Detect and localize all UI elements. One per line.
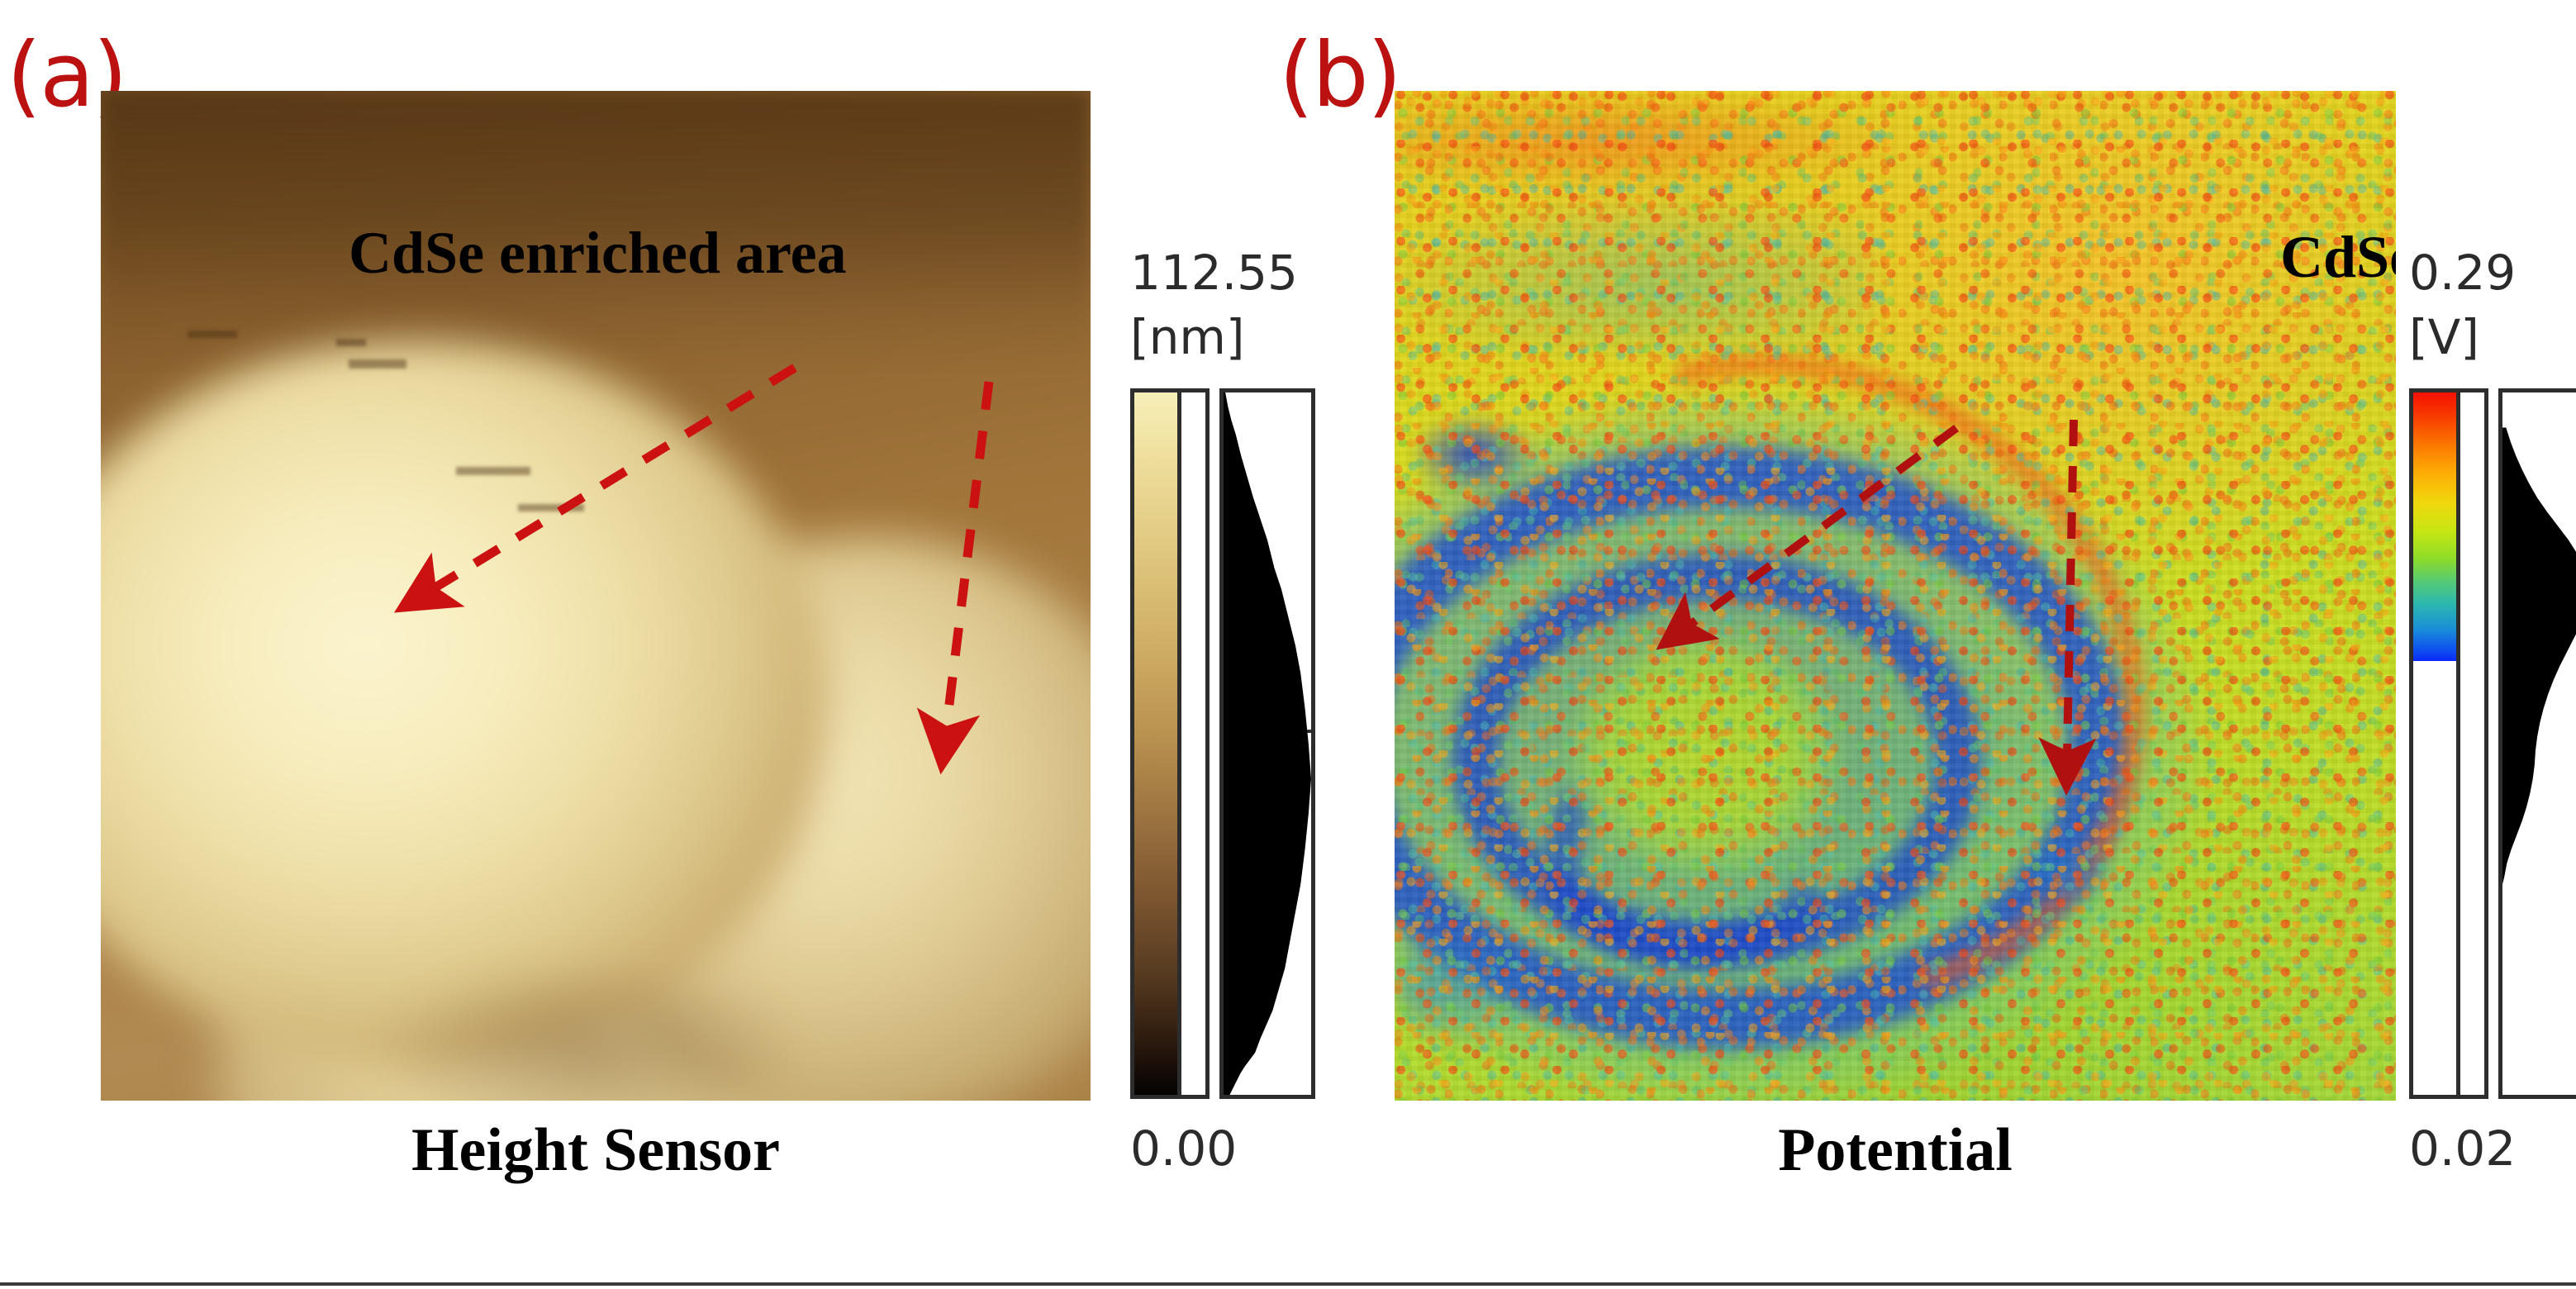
height-colorscale-widget: 112.55 [nm] 0.00 bbox=[1130, 248, 1320, 1173]
height-scale-min-label: 0.00 bbox=[1130, 1124, 1237, 1173]
height-scale-spacer-column bbox=[1181, 388, 1210, 1099]
afm-scan-streak bbox=[336, 339, 366, 346]
potential-scale-max-label: 0.29 bbox=[2409, 248, 2516, 297]
height-histogram-plot bbox=[1224, 392, 1311, 1095]
potential-scale-bars bbox=[2409, 388, 2576, 1099]
annotation-cdse-enriched-area-b: CdSe enriched area bbox=[2280, 227, 2396, 287]
figure-bottom-rule bbox=[0, 1282, 2576, 1286]
panel-label-b: (b) bbox=[1279, 31, 1400, 121]
potential-gradient-bar bbox=[2409, 388, 2460, 1099]
afm-scan-streak bbox=[518, 504, 584, 511]
potential-histogram-plot bbox=[2502, 392, 2576, 1095]
height-scale-unit-label: [nm] bbox=[1130, 312, 1245, 362]
height-scale-bars bbox=[1130, 388, 1315, 1099]
potential-scan-image: CdSe enriched area bbox=[1395, 91, 2396, 1101]
potential-scale-unit-label: [V] bbox=[2409, 312, 2479, 362]
height-histogram-box bbox=[1219, 388, 1315, 1099]
annotation-cdse-enriched-area-a: CdSe enriched area bbox=[349, 223, 847, 283]
potential-colorscale-widget: 0.29 [V] 0.02 bbox=[2409, 248, 2576, 1173]
height-sensor-scan-image: CdSe enriched area bbox=[101, 91, 1091, 1101]
afm-scan-streak bbox=[349, 359, 406, 369]
potential-scale-spacer-column bbox=[2460, 388, 2488, 1099]
potential-scale-min-label: 0.02 bbox=[2409, 1124, 2516, 1173]
kpfm-scan-noise bbox=[1395, 91, 2396, 1101]
figure-root: (a) CdSe enriched area Heigh bbox=[0, 0, 2576, 1289]
afm-scan-streak bbox=[188, 331, 237, 338]
afm-inter-grain-shadow bbox=[373, 958, 803, 1101]
afm-scan-streak bbox=[456, 467, 530, 475]
potential-histogram-box bbox=[2498, 388, 2576, 1099]
height-scale-max-label: 112.55 bbox=[1130, 248, 1298, 297]
potential-gradient-fill bbox=[2413, 392, 2456, 661]
height-gradient-fill bbox=[1134, 392, 1177, 1095]
height-gradient-bar bbox=[1130, 388, 1181, 1099]
caption-potential: Potential bbox=[1395, 1117, 2396, 1183]
caption-height-sensor: Height Sensor bbox=[101, 1117, 1091, 1183]
